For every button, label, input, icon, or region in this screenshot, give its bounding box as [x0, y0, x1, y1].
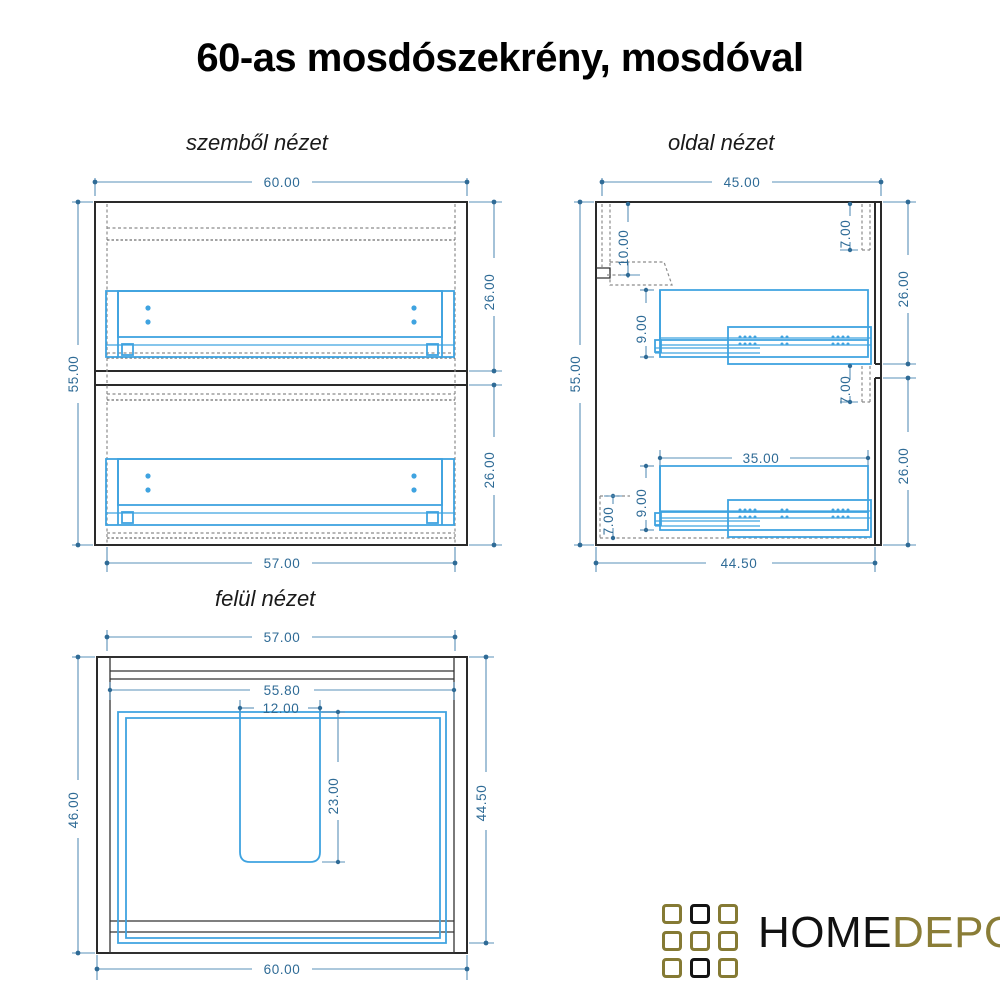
top-dim-23: 23.00 — [322, 710, 345, 864]
side-dim-26-lower: 26.00 — [896, 448, 911, 485]
side-wall-mount — [596, 268, 610, 278]
front-dim-57: 57.00 — [264, 556, 301, 571]
top-dim-60: 60.00 — [95, 955, 470, 980]
top-dim-23-label: 23.00 — [326, 778, 341, 815]
front-upper-hole-1 — [145, 305, 150, 310]
side-dim-bottom-width: 44.50 — [594, 547, 878, 572]
front-cabinet-outline — [95, 202, 467, 545]
front-lower-drawer — [106, 459, 454, 525]
top-dim-57: 57.00 — [105, 630, 458, 651]
top-dim-12-label: 12.00 — [263, 701, 300, 716]
logo-text-home: HOME — [758, 908, 892, 957]
top-sink-cutout — [240, 710, 320, 862]
side-dim-10-label: 10.00 — [616, 230, 631, 267]
side-dim-7-bottom-label: 7.00 — [601, 507, 616, 536]
front-dim-right-upper: 26.00 — [469, 200, 502, 374]
side-lower-slide-holes — [739, 509, 850, 519]
side-dim-35-label: 35.00 — [743, 451, 780, 466]
front-dim-left-height: 55.00 — [66, 200, 93, 548]
side-lower-drawer — [655, 466, 871, 537]
front-dim-60: 60.00 — [264, 175, 301, 190]
top-dim-12: 12.00 — [238, 700, 322, 716]
front-upper-drawer-box — [106, 291, 454, 357]
side-dim-right-lower: 26.00 — [883, 376, 916, 548]
side-dim-55: 55.00 — [568, 356, 583, 393]
side-dim-top-width: 45.00 — [600, 175, 884, 196]
logo-wordmark: HOMEDEPO — [758, 908, 1000, 958]
side-view-drawing: 45.00 55.00 26.00 — [568, 175, 916, 572]
technical-drawing-page: 60-as mosdószekrény, mosdóval szemből né… — [0, 0, 1000, 1000]
front-lower-hole-1 — [145, 473, 150, 478]
top-dim-57-label: 57.00 — [264, 630, 301, 645]
side-dim-7-mid: 7.00 — [838, 364, 858, 405]
front-dim-55: 55.00 — [66, 356, 81, 393]
logo-square-2-2 — [718, 958, 738, 978]
top-basin-inner — [126, 718, 440, 938]
top-dim-46-label: 46.00 — [66, 792, 81, 829]
side-dim-45: 45.00 — [724, 175, 761, 190]
side-dim-44-50: 44.50 — [721, 556, 758, 571]
logo-grid-icon — [662, 904, 746, 982]
front-dim-bottom-width: 57.00 — [105, 547, 458, 572]
side-dim-9-lower: 9.00 — [634, 464, 654, 532]
top-dim-44-50-label: 44.50 — [474, 785, 489, 822]
top-dim-60-label: 60.00 — [264, 962, 301, 977]
side-dim-9-upper-label: 9.00 — [634, 315, 649, 344]
side-dim-7-top-label: 7.00 — [838, 220, 853, 249]
front-lower-drawer-box — [106, 459, 454, 525]
top-basin-outer — [118, 712, 446, 943]
side-dim-right-upper: 26.00 — [883, 200, 916, 367]
front-dim-26-upper: 26.00 — [482, 274, 497, 311]
side-dim-9-lower-label: 9.00 — [634, 489, 649, 518]
front-lower-left-bracket — [122, 512, 133, 523]
front-dim-top-width: 60.00 — [93, 175, 470, 196]
front-dim-right-lower: 26.00 — [469, 383, 502, 548]
front-view-drawing: 60.00 55.00 26.00 — [66, 175, 502, 572]
logo-square-0-1 — [690, 904, 710, 924]
front-lower-hole-3 — [411, 473, 416, 478]
side-dim-35: 35.00 — [658, 450, 870, 466]
logo-square-1-0 — [662, 931, 682, 951]
top-dim-44-50: 44.50 — [469, 655, 494, 946]
front-upper-drawer — [106, 291, 454, 357]
front-lower-drawer-inner — [118, 459, 442, 505]
logo-text-depo: DEPO — [892, 908, 1000, 957]
side-upper-drawer-box — [660, 290, 868, 340]
front-upper-hole-3 — [411, 305, 416, 310]
top-dim-46: 46.00 — [66, 655, 95, 956]
logo-square-1-2 — [718, 931, 738, 951]
side-upper-drawer — [655, 290, 871, 364]
side-dim-26-upper: 26.00 — [896, 271, 911, 308]
side-lower-drawer-box — [660, 466, 868, 512]
side-dim-9-upper: 9.00 — [634, 288, 654, 359]
front-lower-hole-2 — [145, 487, 150, 492]
logo-square-0-0 — [662, 904, 682, 924]
logo-square-2-1 — [690, 958, 710, 978]
side-dim-7-mid-label: 7.00 — [838, 376, 853, 405]
front-dim-26-lower: 26.00 — [482, 452, 497, 489]
side-dim-7-bottom: 7.00 — [601, 494, 622, 540]
side-dim-10: 10.00 — [616, 202, 640, 278]
logo-square-0-2 — [718, 904, 738, 924]
logo-square-2-0 — [662, 958, 682, 978]
top-view-drawing: 57.00 55.80 12.00 — [66, 630, 494, 980]
front-lower-right-bracket — [427, 512, 438, 523]
logo-square-1-1 — [690, 931, 710, 951]
homedepo-logo[interactable]: HOMEDEPO — [662, 900, 982, 986]
front-upper-hole-2 — [145, 319, 150, 324]
side-dim-left-height: 55.00 — [568, 200, 594, 548]
drawing-canvas: .ob{fill:none;stroke:#2a2a2a;stroke-widt… — [0, 0, 1000, 1000]
top-dim-55-80: 55.80 — [108, 682, 456, 700]
front-upper-hole-4 — [411, 319, 416, 324]
side-upper-drawer-wall — [660, 290, 868, 357]
top-basin — [118, 710, 446, 943]
front-lower-hole-4 — [411, 487, 416, 492]
side-dim-7-top: 7.00 — [838, 202, 858, 252]
front-upper-drawer-inner — [118, 291, 442, 337]
top-dim-55-80-label: 55.80 — [264, 683, 301, 698]
